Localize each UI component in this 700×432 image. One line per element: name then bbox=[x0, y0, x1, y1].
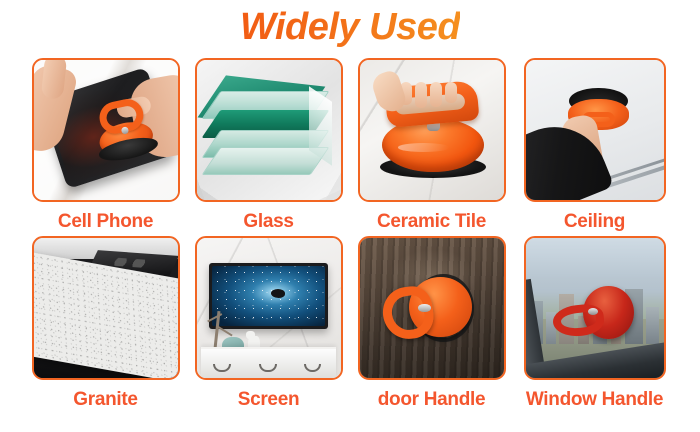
scene-cell-phone bbox=[34, 60, 178, 200]
image-card-ceiling[interactable] bbox=[524, 58, 666, 202]
use-case-cell-phone[interactable]: Cell Phone bbox=[24, 58, 187, 236]
use-case-ceiling[interactable]: Ceiling bbox=[513, 58, 676, 236]
use-case-ceramic-tile[interactable]: Ceramic Tile bbox=[350, 58, 513, 236]
red-suction-tool-icon bbox=[553, 286, 636, 342]
drawer-handles-icon bbox=[201, 364, 336, 371]
starfield-icon bbox=[212, 266, 324, 326]
card-label-ceiling: Ceiling bbox=[564, 211, 625, 233]
image-card-door-handle[interactable] bbox=[358, 236, 506, 380]
hand-fingers-icon bbox=[399, 82, 467, 108]
card-label-granite: Granite bbox=[73, 389, 137, 411]
scene-glass bbox=[197, 60, 341, 200]
scene-ceramic-tile bbox=[360, 60, 504, 200]
use-case-granite[interactable]: Granite bbox=[24, 236, 187, 414]
image-card-ceramic-tile[interactable] bbox=[358, 58, 506, 202]
use-case-door-handle[interactable]: door Handle bbox=[350, 236, 513, 414]
page-title: Widely Used bbox=[240, 6, 460, 49]
card-label-door-handle: door Handle bbox=[378, 389, 486, 411]
image-card-screen[interactable] bbox=[195, 236, 343, 380]
scene-granite bbox=[34, 238, 178, 378]
title-container: Widely Used bbox=[0, 6, 700, 49]
suction-tool-icon bbox=[380, 80, 487, 181]
image-card-window-handle[interactable] bbox=[524, 236, 666, 380]
moon-silhouette-icon bbox=[271, 289, 286, 298]
card-label-cell-phone: Cell Phone bbox=[58, 211, 153, 233]
image-card-glass[interactable] bbox=[195, 58, 343, 202]
use-case-glass[interactable]: Glass bbox=[187, 58, 350, 236]
use-case-screen[interactable]: Screen bbox=[187, 236, 350, 414]
television-icon bbox=[209, 263, 327, 329]
image-card-cell-phone[interactable] bbox=[32, 58, 180, 202]
scene-window-handle bbox=[526, 238, 664, 378]
scene-screen bbox=[197, 238, 341, 378]
card-label-window-handle: Window Handle bbox=[526, 389, 663, 411]
image-card-granite[interactable] bbox=[32, 236, 180, 380]
suction-tool-icon bbox=[383, 274, 472, 344]
card-label-glass: Glass bbox=[243, 211, 293, 233]
tv-screen-icon bbox=[212, 266, 324, 326]
scene-ceiling bbox=[526, 60, 664, 200]
infographic-page: Widely Used Cell Phone bbox=[0, 0, 700, 432]
suction-tool-icon bbox=[88, 96, 162, 170]
use-case-grid: Cell Phone Glass bbox=[0, 58, 700, 414]
scene-door-handle bbox=[360, 238, 504, 378]
card-label-screen: Screen bbox=[238, 389, 300, 411]
card-label-ceramic-tile: Ceramic Tile bbox=[377, 211, 486, 233]
dresser-icon bbox=[201, 347, 336, 378]
use-case-window-handle[interactable]: Window Handle bbox=[513, 236, 676, 414]
